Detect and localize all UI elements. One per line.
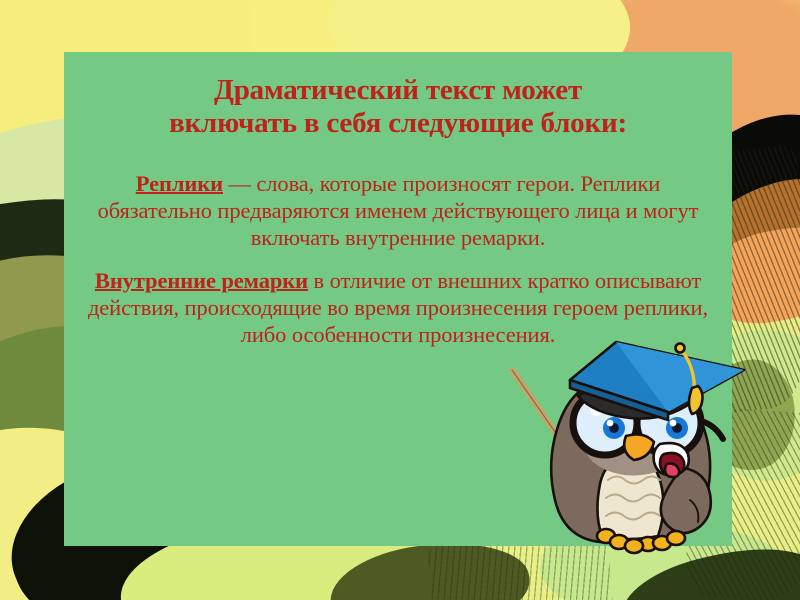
slide-title-line-1: Драматический текст может (214, 74, 582, 106)
slide-title: Драматический текст может включать в себ… (82, 74, 714, 140)
slide-title-line-2: включать в себя следующие блоки: (169, 107, 627, 139)
term-repliki: Реплики (136, 171, 223, 196)
graduation-cap-icon (570, 342, 744, 420)
owl-teacher-mascot (508, 322, 758, 560)
paragraph-replики: Реплики — слова, которые произносят геро… (82, 170, 714, 251)
term-vnutrennie-remarki: Внутренние ремарки (95, 268, 308, 293)
slide-canvas: Драматический текст может включать в себ… (0, 0, 800, 600)
